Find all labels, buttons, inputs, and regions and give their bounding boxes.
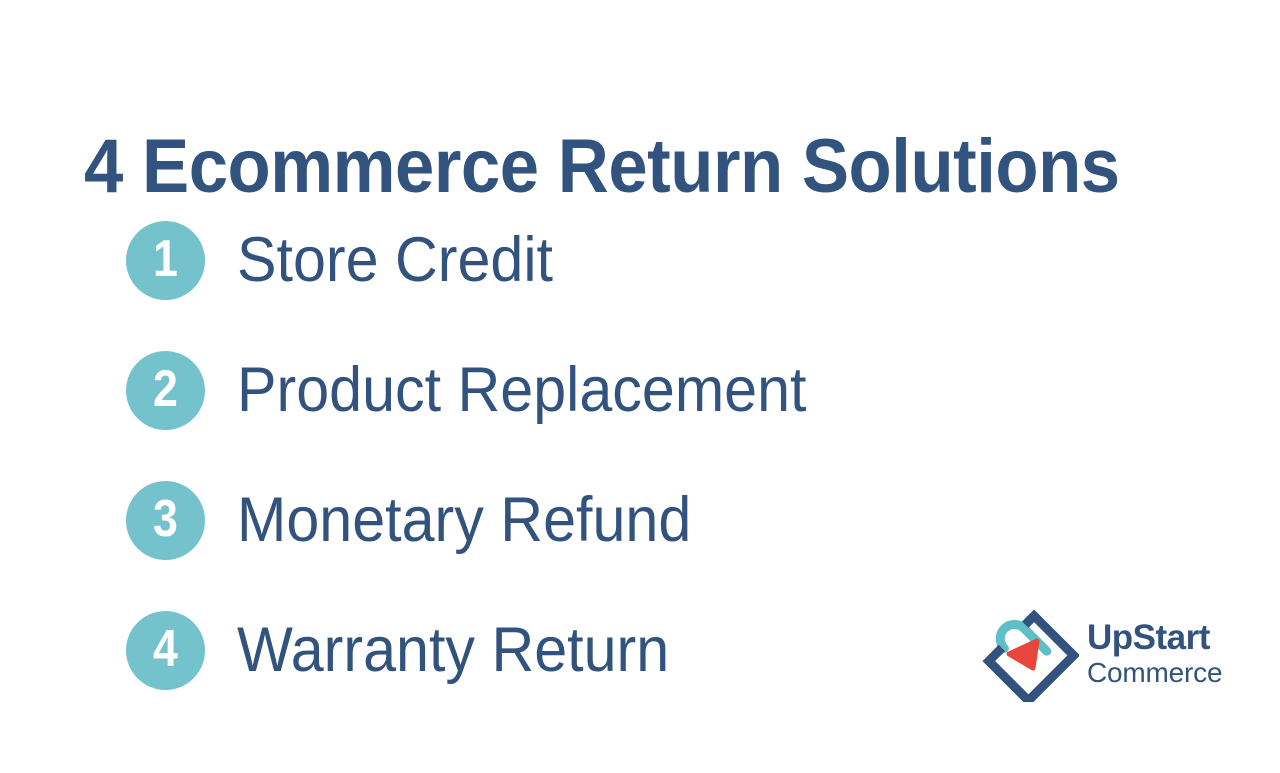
badge-number-label: 3 [153, 493, 178, 545]
list-item: 3 Monetary Refund [126, 478, 986, 562]
list-item: 2 Product Replacement [126, 348, 986, 432]
list-item: 4 Warranty Return [126, 608, 986, 692]
solution-label-2: Product Replacement [237, 359, 806, 422]
slide-canvas: 4 Ecommerce Return Solutions 1 Store Cre… [0, 0, 1280, 773]
list-item: 1 Store Credit [126, 218, 986, 302]
brand-logo: UpStart Commerce [975, 606, 1225, 702]
logo-tagline: Commerce [1087, 658, 1222, 687]
page-title: 4 Ecommerce Return Solutions [84, 129, 1120, 205]
badge-number-label: 1 [153, 233, 178, 285]
solution-label-4: Warranty Return [237, 619, 669, 682]
solution-label-3: Monetary Refund [237, 489, 691, 552]
solutions-list: 1 Store Credit 2 Product Replacement 3 M… [126, 218, 986, 738]
upstart-diamond-bag-icon [975, 606, 1079, 702]
number-badge-2: 2 [126, 351, 205, 430]
badge-number-label: 4 [153, 623, 178, 675]
logo-name: UpStart [1087, 620, 1222, 656]
badge-number-label: 2 [153, 363, 178, 415]
number-badge-4: 4 [126, 611, 205, 690]
number-badge-1: 1 [126, 221, 205, 300]
number-badge-3: 3 [126, 481, 205, 560]
logo-wordmark: UpStart Commerce [1087, 620, 1222, 687]
solution-label-1: Store Credit [237, 229, 553, 292]
